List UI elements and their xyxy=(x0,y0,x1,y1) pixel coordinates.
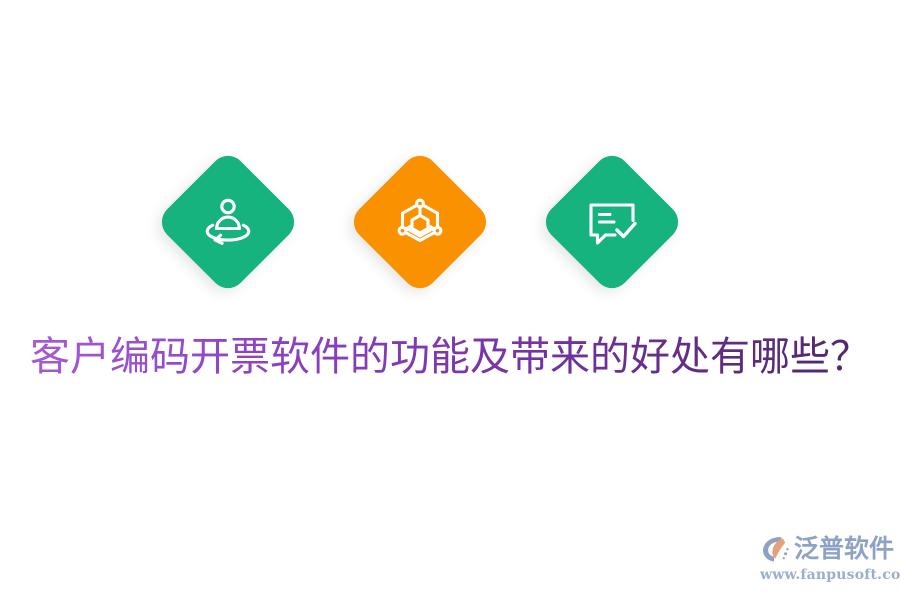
brand-url[interactable]: www.fanpusoft.com xyxy=(760,566,888,584)
brand-logo-top: 泛普软件 xyxy=(760,532,888,566)
badge-diamond-2[interactable] xyxy=(346,148,493,295)
brand-name: 泛普软件 xyxy=(794,534,894,564)
badge-diamond-1[interactable] xyxy=(154,148,301,295)
badge-diamond-3[interactable] xyxy=(538,148,685,295)
page-root: 客户编码开票软件的功能及带来的好处有哪些？ 泛普软件 www.fanpusoft… xyxy=(0,0,900,600)
fanpu-c-mark-icon xyxy=(760,534,792,564)
badge-row xyxy=(0,146,900,298)
brand-logo[interactable]: 泛普软件 www.fanpusoft.com xyxy=(760,532,888,590)
page-title: 客户编码开票软件的功能及带来的好处有哪些？ xyxy=(0,330,900,384)
